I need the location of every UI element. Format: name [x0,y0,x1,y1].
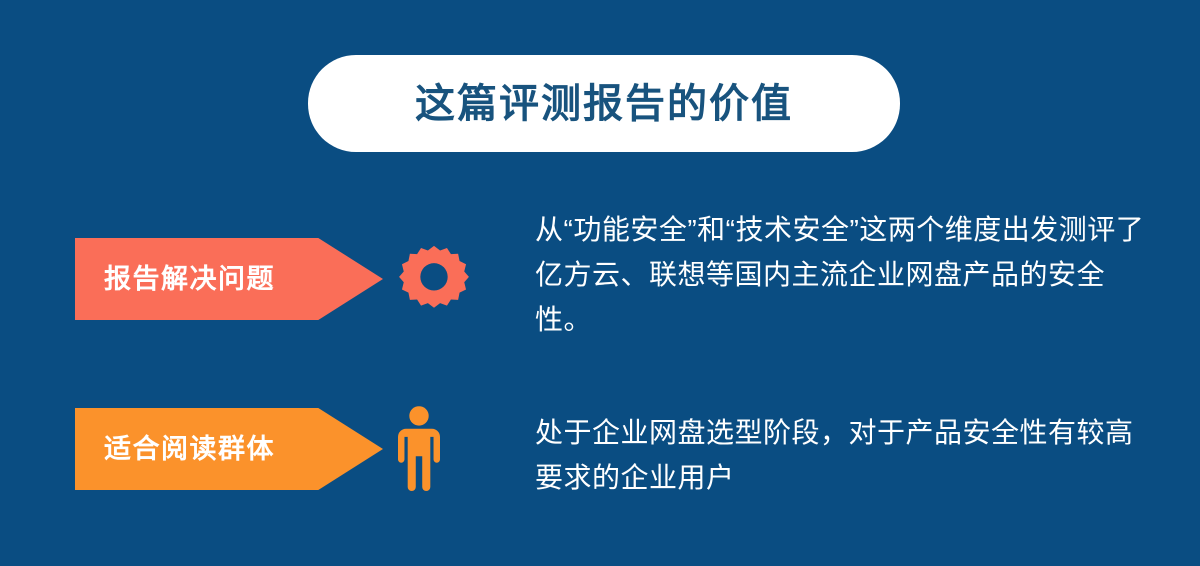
content-row-2: 适合阅读群体 处于企业网盘选型阶段，对于产品安全性有较高要求的企业用户 [0,360,1200,530]
badge-label: 适合阅读群体 [75,436,275,463]
gear-icon [398,234,488,324]
badge-report-problem[interactable]: 报告解决问题 [75,238,383,320]
content-row-1: 报告解决问题 从“功能安全”和“技术安全”这两个维度出发测评了亿方云、联想等国内… [0,190,1200,360]
page-title: 这篇评测报告的价值 [415,84,793,124]
person-icon [398,404,488,494]
title-pill: 这篇评测报告的价值 [308,55,900,152]
slide-canvas: 这篇评测报告的价值 报告解决问题 从“功能安全”和“技术安全”这两个维度出发测评… [0,0,1200,566]
badge-target-audience[interactable]: 适合阅读群体 [75,408,383,490]
body-paragraph-1: 从“功能安全”和“技术安全”这两个维度出发测评了亿方云、联想等国内主流企业网盘产… [535,207,1150,342]
badge-label: 报告解决问题 [75,266,275,293]
body-paragraph-2: 处于企业网盘选型阶段，对于产品安全性有较高要求的企业用户 [535,410,1150,500]
